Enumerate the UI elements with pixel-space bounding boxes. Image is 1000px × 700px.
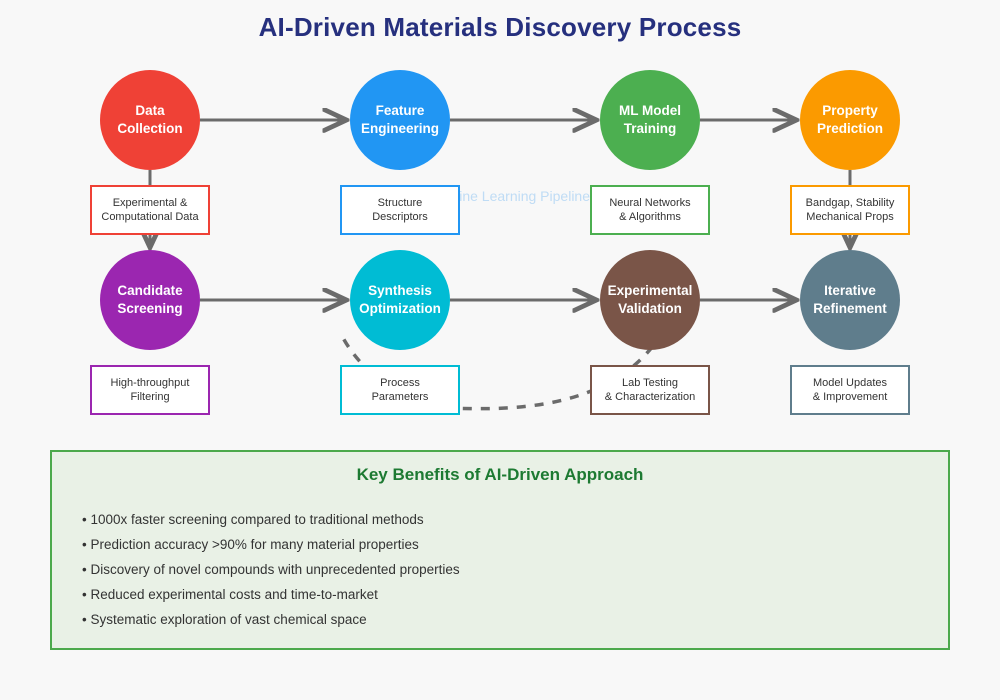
benefits-title: Key Benefits of AI-Driven Approach	[52, 465, 948, 485]
node-label-line1: Iterative	[824, 282, 876, 300]
node-label-line2: Optimization	[359, 300, 441, 318]
node-iterative-refinement[interactable]: IterativeRefinement	[800, 250, 900, 350]
detail-line2: Descriptors	[372, 210, 428, 225]
benefit-item: • Reduced experimental costs and time-to…	[82, 582, 948, 607]
benefit-item: • Prediction accuracy >90% for many mate…	[82, 532, 948, 557]
node-label-line2: Refinement	[813, 300, 887, 318]
node-label-line1: Candidate	[117, 282, 182, 300]
detail-line1: Experimental &	[113, 196, 188, 211]
key-benefits-panel: Key Benefits of AI-Driven Approach • 100…	[50, 450, 950, 650]
node-property-prediction[interactable]: PropertyPrediction	[800, 70, 900, 170]
detail-box-iterative-refinement: Model Updates& Improvement	[790, 365, 910, 415]
detail-line1: Neural Networks	[609, 196, 690, 211]
node-feature-engineering[interactable]: FeatureEngineering	[350, 70, 450, 170]
node-label-line1: Data	[135, 102, 164, 120]
node-label-line1: Experimental	[608, 282, 693, 300]
node-label-line2: Validation	[618, 300, 682, 318]
benefit-item: • Discovery of novel compounds with unpr…	[82, 557, 948, 582]
detail-line2: & Characterization	[605, 390, 696, 405]
node-label-line1: Property	[822, 102, 878, 120]
node-label-line1: ML Model	[619, 102, 681, 120]
detail-line2: & Improvement	[813, 390, 888, 405]
node-label-line1: Synthesis	[368, 282, 432, 300]
detail-box-ml-model-training: Neural Networks& Algorithms	[590, 185, 710, 235]
benefit-item: • 1000x faster screening compared to tra…	[82, 507, 948, 532]
detail-line2: Filtering	[130, 390, 169, 405]
detail-box-experimental-validation: Lab Testing& Characterization	[590, 365, 710, 415]
detail-box-feature-engineering: StructureDescriptors	[340, 185, 460, 235]
detail-line1: Process	[380, 376, 420, 391]
node-experimental-validation[interactable]: ExperimentalValidation	[600, 250, 700, 350]
detail-line2: Mechanical Props	[806, 210, 893, 225]
node-ml-model-training[interactable]: ML ModelTraining	[600, 70, 700, 170]
detail-box-data-collection: Experimental &Computational Data	[90, 185, 210, 235]
detail-line2: Computational Data	[101, 210, 198, 225]
node-label-line2: Screening	[117, 300, 182, 318]
detail-line1: Model Updates	[813, 376, 887, 391]
detail-box-property-prediction: Bandgap, StabilityMechanical Props	[790, 185, 910, 235]
node-candidate-screening[interactable]: CandidateScreening	[100, 250, 200, 350]
detail-line1: Bandgap, Stability	[806, 196, 895, 211]
benefits-list: • 1000x faster screening compared to tra…	[52, 507, 948, 632]
node-synthesis-optimization[interactable]: SynthesisOptimization	[350, 250, 450, 350]
detail-line2: Parameters	[372, 390, 429, 405]
node-label-line2: Training	[624, 120, 677, 138]
detail-line1: High-throughput	[111, 376, 190, 391]
node-label-line2: Engineering	[361, 120, 439, 138]
detail-box-candidate-screening: High-throughputFiltering	[90, 365, 210, 415]
connector-lines	[150, 120, 850, 409]
detail-box-synthesis-optimization: ProcessParameters	[340, 365, 460, 415]
node-label-line1: Feature	[376, 102, 425, 120]
node-label-line2: Collection	[117, 120, 182, 138]
diagram-canvas: AI-Driven Materials Discovery Process Ma…	[0, 0, 1000, 700]
detail-line1: Lab Testing	[622, 376, 678, 391]
benefit-item: • Systematic exploration of vast chemica…	[82, 607, 948, 632]
node-data-collection[interactable]: DataCollection	[100, 70, 200, 170]
detail-line2: & Algorithms	[619, 210, 681, 225]
detail-line1: Structure	[378, 196, 423, 211]
node-label-line2: Prediction	[817, 120, 883, 138]
